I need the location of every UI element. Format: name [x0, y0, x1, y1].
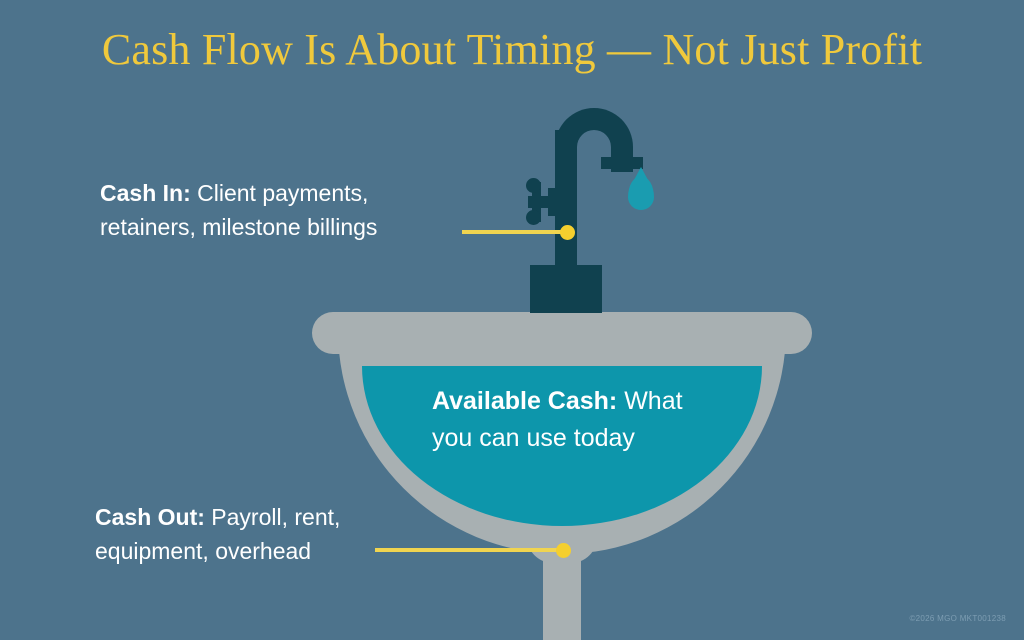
callout-cash-out: Cash Out: Payroll, rent, equipment, over…	[95, 500, 340, 568]
sink-rim-icon	[312, 312, 812, 354]
callout-cash-in-line1: Cash In: Client payments,	[100, 176, 377, 210]
callout-cash-in-label: Cash In:	[100, 180, 191, 206]
leader-dot-cash-out	[556, 543, 571, 558]
callout-cash-out-line2: equipment, overhead	[95, 534, 340, 568]
callout-available-cash: Available Cash: What you can use today	[432, 383, 722, 457]
faucet-base-icon	[530, 265, 602, 313]
copyright-notice: ©2026 MGO MKT001238	[909, 614, 1006, 624]
callout-cash-out-label: Cash Out:	[95, 504, 205, 530]
leader-line-cash-in	[462, 230, 570, 234]
callout-cash-in-line2: retainers, milestone billings	[100, 210, 377, 244]
valve-knob-top-icon	[526, 178, 541, 193]
leader-dot-cash-in	[560, 225, 575, 240]
water-droplet-icon	[628, 176, 654, 210]
valve-handle-block-icon	[548, 188, 562, 216]
leader-line-cash-out	[375, 548, 565, 552]
callout-cash-out-line1: Cash Out: Payroll, rent,	[95, 500, 340, 534]
callout-cash-in: Cash In: Client payments, retainers, mil…	[100, 176, 377, 244]
callout-cash-in-text: Client payments,	[191, 180, 369, 206]
infographic-poster: Cash Flow Is About Timing — Not Just Pro…	[0, 0, 1024, 640]
page-title: Cash Flow Is About Timing — Not Just Pro…	[0, 22, 1024, 78]
callout-available-cash-label: Available Cash:	[432, 387, 617, 415]
valve-knob-bottom-icon	[526, 210, 541, 225]
callout-cash-out-text: Payroll, rent,	[205, 504, 341, 530]
